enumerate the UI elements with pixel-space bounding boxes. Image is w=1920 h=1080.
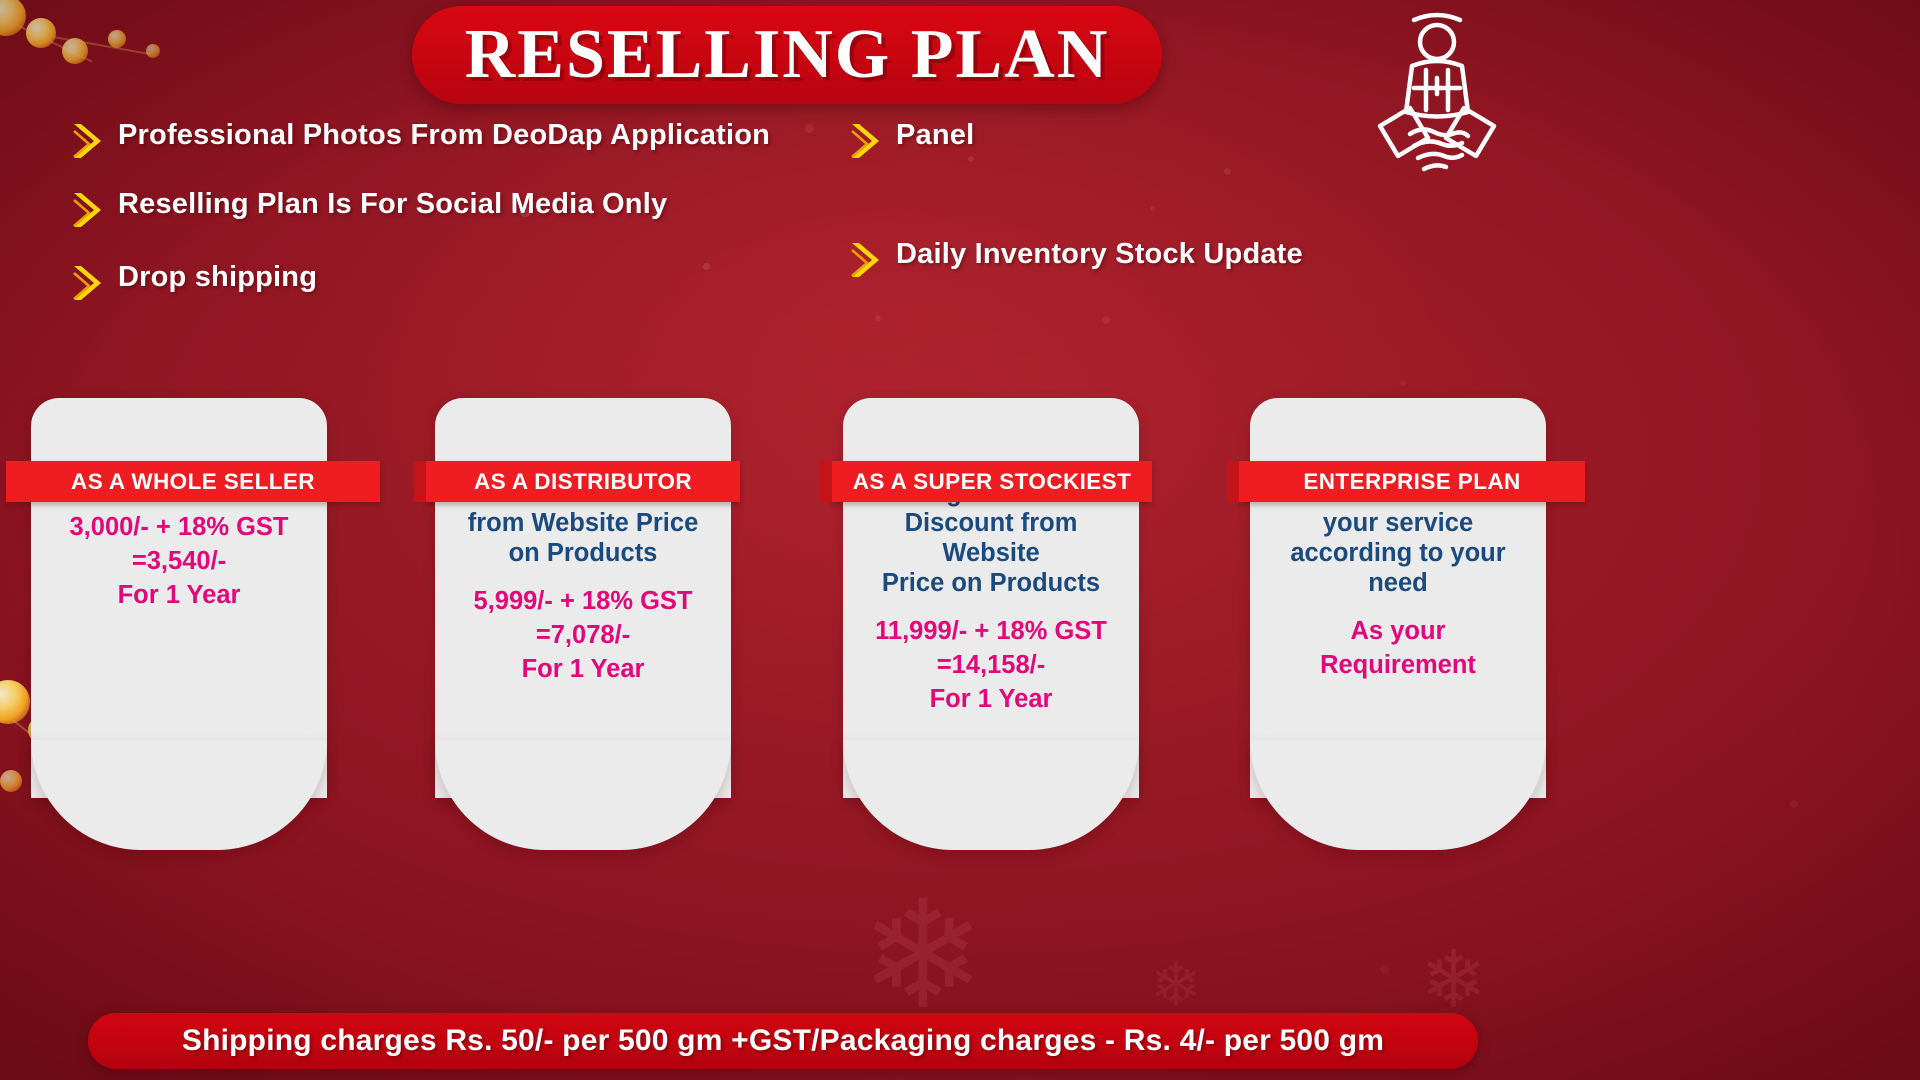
card-duration-line: For 1 Year — [853, 684, 1129, 714]
features-left-column: Professional Photos From DeoDap Applicat… — [72, 118, 862, 329]
card-heading-line: on Products — [445, 538, 721, 568]
card-body: ENTERPRISE PLAN You can Customize your s… — [1250, 398, 1546, 798]
card-note-line: As your — [1260, 616, 1536, 646]
card-duration-line: For 1 Year — [41, 580, 317, 610]
card-total-line: =3,540/- — [41, 546, 317, 576]
card-heading-line: according to your — [1260, 538, 1536, 568]
card-heading-line: Discount from — [853, 508, 1129, 538]
card-price-line: 11,999/- + 18% GST — [853, 616, 1129, 646]
card-heading-line: Price on Products — [853, 568, 1129, 598]
card-heading-line: need — [1260, 568, 1536, 598]
pricing-card-super-stockiest[interactable]: AS A SUPER STOCKIEST Get Avg. 18% to 20%… — [843, 398, 1139, 798]
page-title: RESELLING PLAN — [465, 15, 1110, 95]
feature-item: Professional Photos From DeoDap Applicat… — [72, 118, 862, 161]
card-content: You can Customize your service according… — [1250, 472, 1546, 680]
chevron-double-right-icon — [72, 263, 106, 303]
card-total-line: =14,158/- — [853, 650, 1129, 680]
card-body: AS A DISTRIBUTOR Get 10% Discount from W… — [435, 398, 731, 798]
feature-label: Professional Photos From DeoDap Applicat… — [118, 118, 770, 153]
pricing-cards: AS A WHOLE SELLER Get Website Price 3,00… — [0, 398, 1920, 818]
chevron-double-right-icon — [72, 190, 106, 230]
pricing-card-distributor[interactable]: AS A DISTRIBUTOR Get 10% Discount from W… — [435, 398, 731, 798]
title-banner: RESELLING PLAN — [412, 6, 1162, 104]
card-content: Get Avg. 18% to 20% Discount from Websit… — [843, 472, 1139, 715]
card-content: Get 10% Discount from Website Price on P… — [435, 472, 731, 684]
chevron-double-right-icon — [850, 121, 884, 161]
feature-label: Drop shipping — [118, 260, 317, 295]
card-tab-label: AS A WHOLE SELLER — [71, 469, 315, 495]
pricing-card-whole-seller[interactable]: AS A WHOLE SELLER Get Website Price 3,00… — [31, 398, 327, 798]
feature-item: Daily Inventory Stock Update — [850, 237, 1540, 280]
card-tab-label: ENTERPRISE PLAN — [1303, 469, 1520, 495]
chevron-double-right-icon — [72, 121, 106, 161]
card-body: AS A SUPER STOCKIEST Get Avg. 18% to 20%… — [843, 398, 1139, 798]
card-heading-line: from Website Price — [445, 508, 721, 538]
card-tab-enterprise: ENTERPRISE PLAN — [1239, 461, 1585, 502]
card-heading-line: Website — [853, 538, 1129, 568]
card-price-line: 5,999/- + 18% GST — [445, 586, 721, 616]
pricing-card-enterprise[interactable]: ENTERPRISE PLAN You can Customize your s… — [1250, 398, 1546, 798]
card-price-line: 3,000/- + 18% GST — [41, 512, 317, 542]
card-tab-label: AS A DISTRIBUTOR — [474, 469, 692, 495]
card-tab-distributor: AS A DISTRIBUTOR — [426, 461, 740, 502]
card-tab-whole-seller: AS A WHOLE SELLER — [6, 461, 380, 502]
feature-item: Panel — [850, 118, 1540, 161]
card-body: AS A WHOLE SELLER Get Website Price 3,00… — [31, 398, 327, 798]
shipping-charges-banner: Shipping charges Rs. 50/- per 500 gm +GS… — [88, 1013, 1478, 1069]
card-tab-label: AS A SUPER STOCKIEST — [853, 469, 1131, 495]
feature-item: Reselling Plan Is For Social Media Only — [72, 187, 862, 230]
card-duration-line: For 1 Year — [445, 654, 721, 684]
feature-label: Panel — [896, 118, 974, 153]
card-heading-line: your service — [1260, 508, 1536, 538]
chevron-double-right-icon — [850, 240, 884, 280]
features-right-column: Panel Daily Inventory Stock Update — [850, 118, 1540, 306]
card-tab-super-stockiest: AS A SUPER STOCKIEST — [832, 461, 1152, 502]
card-note-line: Requirement — [1260, 650, 1536, 680]
feature-item: Drop shipping — [72, 260, 862, 303]
feature-label: Reselling Plan Is For Social Media Only — [118, 187, 667, 222]
card-total-line: =7,078/- — [445, 620, 721, 650]
feature-label: Daily Inventory Stock Update — [896, 237, 1303, 272]
shipping-charges-text: Shipping charges Rs. 50/- per 500 gm +GS… — [182, 1024, 1384, 1058]
